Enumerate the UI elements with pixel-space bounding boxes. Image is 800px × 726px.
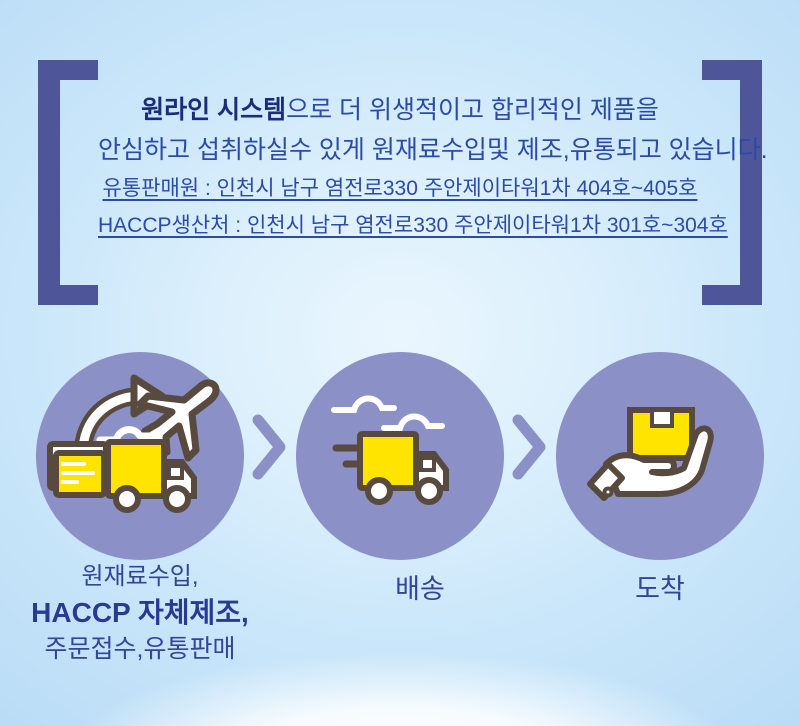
address-haccp-producer: HACCP생산처 : 인천시 남구 염전로330 주안제이타워1차 301호~3… — [98, 207, 702, 244]
step-1-label-line-3: 주문접수,유통판매 — [0, 632, 280, 667]
step-labels: 원재료수입, HACCP 자체제조, 주문접수,유통판매 배송 도착 — [0, 560, 800, 680]
step-2-label: 배송 — [280, 570, 560, 608]
step-2-label-line-1: 배송 — [280, 570, 560, 608]
step-delivery — [280, 352, 520, 560]
right-bracket-icon — [702, 60, 770, 305]
address-distributor: 유통판매원 : 인천시 남구 염전로330 주안제이타워1차 404호~405호 — [98, 170, 702, 207]
documents-truck-airplane-icon — [36, 352, 244, 560]
left-bracket-icon — [30, 60, 98, 305]
step-1-label-line-2: HACCP 자체제조, — [0, 594, 280, 632]
headline-remainder: 으로 더 위생적이고 합리적인 제품을 — [286, 96, 659, 124]
headline-line-1: 원라인 시스템으로 더 위생적이고 합리적인 제품을 — [98, 90, 702, 130]
step-3-label: 도착 — [520, 570, 800, 608]
headline-emphasis: 원라인 시스템 — [141, 96, 286, 124]
step-arrival — [540, 352, 780, 560]
step-3-circle — [556, 352, 764, 560]
step-import-manufacture — [20, 352, 260, 560]
headline-line-2: 안심하고 섭취하실수 있게 원재료수입및 제조,유통되고 있습니다. — [98, 130, 702, 170]
step-3-label-line-1: 도착 — [520, 570, 800, 608]
moving-truck-icon — [296, 352, 504, 560]
panel-text-block: 원라인 시스템으로 더 위생적이고 합리적인 제품을 안심하고 섭취하실수 있게… — [98, 90, 702, 244]
step-1-label-line-1: 원재료수입, — [0, 560, 280, 594]
infographic-canvas: 원라인 시스템으로 더 위생적이고 합리적인 제품을 안심하고 섭취하실수 있게… — [0, 0, 800, 726]
step-1-label: 원재료수입, HACCP 자체제조, 주문접수,유통판매 — [0, 560, 280, 667]
chevron-right-icon-1 — [248, 412, 288, 482]
step-1-circle — [36, 352, 244, 560]
bracket-panel: 원라인 시스템으로 더 위생적이고 합리적인 제품을 안심하고 섭취하실수 있게… — [30, 60, 770, 305]
step-2-circle — [296, 352, 504, 560]
chevron-right-icon-2 — [508, 412, 548, 482]
hand-holding-package-icon — [556, 352, 764, 560]
process-steps — [0, 352, 800, 592]
